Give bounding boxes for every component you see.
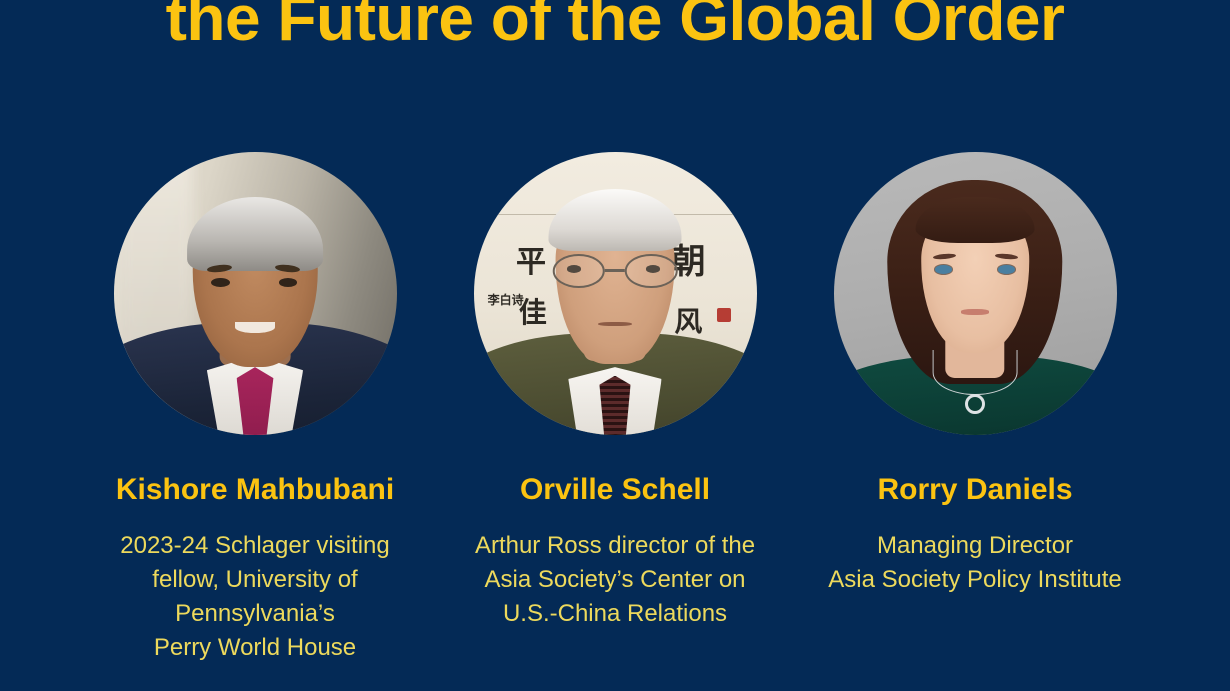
necklace-pendant-shape (965, 394, 985, 414)
speaker-name: Orville Schell (520, 475, 710, 505)
speaker-role-line: Arthur Ross director of the (475, 529, 755, 563)
speaker-portrait-orville-schell: 平 佳 朝 风 李白诗 (474, 152, 757, 435)
title-banner: the Future of the Global Order (0, 0, 1230, 58)
speaker-role-line: U.S.-China Relations (475, 597, 755, 631)
speaker-role: Arthur Ross director of the Asia Society… (475, 529, 755, 631)
necktie-shape (599, 376, 630, 435)
eye-left-shape (211, 278, 229, 287)
hair-fringe-shape (916, 197, 1035, 242)
calligraphy-character: 平 (516, 248, 546, 278)
speaker-portrait-kishore-mahbubani (114, 152, 397, 435)
speaker-name: Rorry Daniels (877, 475, 1072, 505)
speaker-role-line: fellow, University of (120, 563, 390, 597)
speaker-card-kishore-mahbubani: Kishore Mahbubani 2023-24 Schlager visit… (80, 152, 430, 665)
speaker-role-line: Asia Society Policy Institute (828, 563, 1121, 597)
mouth-shape (961, 309, 989, 315)
calligraphy-character: 风 (674, 308, 702, 336)
speaker-role-line: 2023-24 Schlager visiting (120, 529, 390, 563)
necklace-chain-shape (933, 350, 1018, 395)
eye-left-shape (935, 265, 952, 273)
lens-right-shape (625, 254, 677, 288)
glasses-bridge-shape (605, 269, 625, 272)
lens-left-shape (553, 254, 605, 288)
speaker-role: 2023-24 Schlager visiting fellow, Univer… (120, 529, 390, 665)
red-seal-stamp (717, 308, 731, 322)
speaker-role-line: Perry World House (120, 631, 390, 665)
speaker-card-rorry-daniels: Rorry Daniels Managing Director Asia Soc… (800, 152, 1150, 597)
speaker-panel: Kishore Mahbubani 2023-24 Schlager visit… (0, 152, 1230, 665)
mouth-shape (235, 322, 275, 333)
speaker-role: Managing Director Asia Society Policy In… (828, 529, 1121, 597)
eye-right-shape (998, 265, 1015, 273)
speaker-portrait-rorry-daniels (834, 152, 1117, 435)
page-title: the Future of the Global Order (0, 0, 1230, 58)
eyeglasses-shape (553, 254, 678, 288)
speaker-role-line: Asia Society’s Center on (475, 563, 755, 597)
calligraphy-signature: 李白诗 (488, 294, 524, 308)
speaker-name: Kishore Mahbubani (116, 475, 394, 505)
speaker-card-orville-schell: 平 佳 朝 风 李白诗 Orville Schell Arthur Ross d… (440, 152, 790, 631)
speaker-role-line: Managing Director (828, 529, 1121, 563)
speaker-role-line: Pennsylvania’s (120, 597, 390, 631)
